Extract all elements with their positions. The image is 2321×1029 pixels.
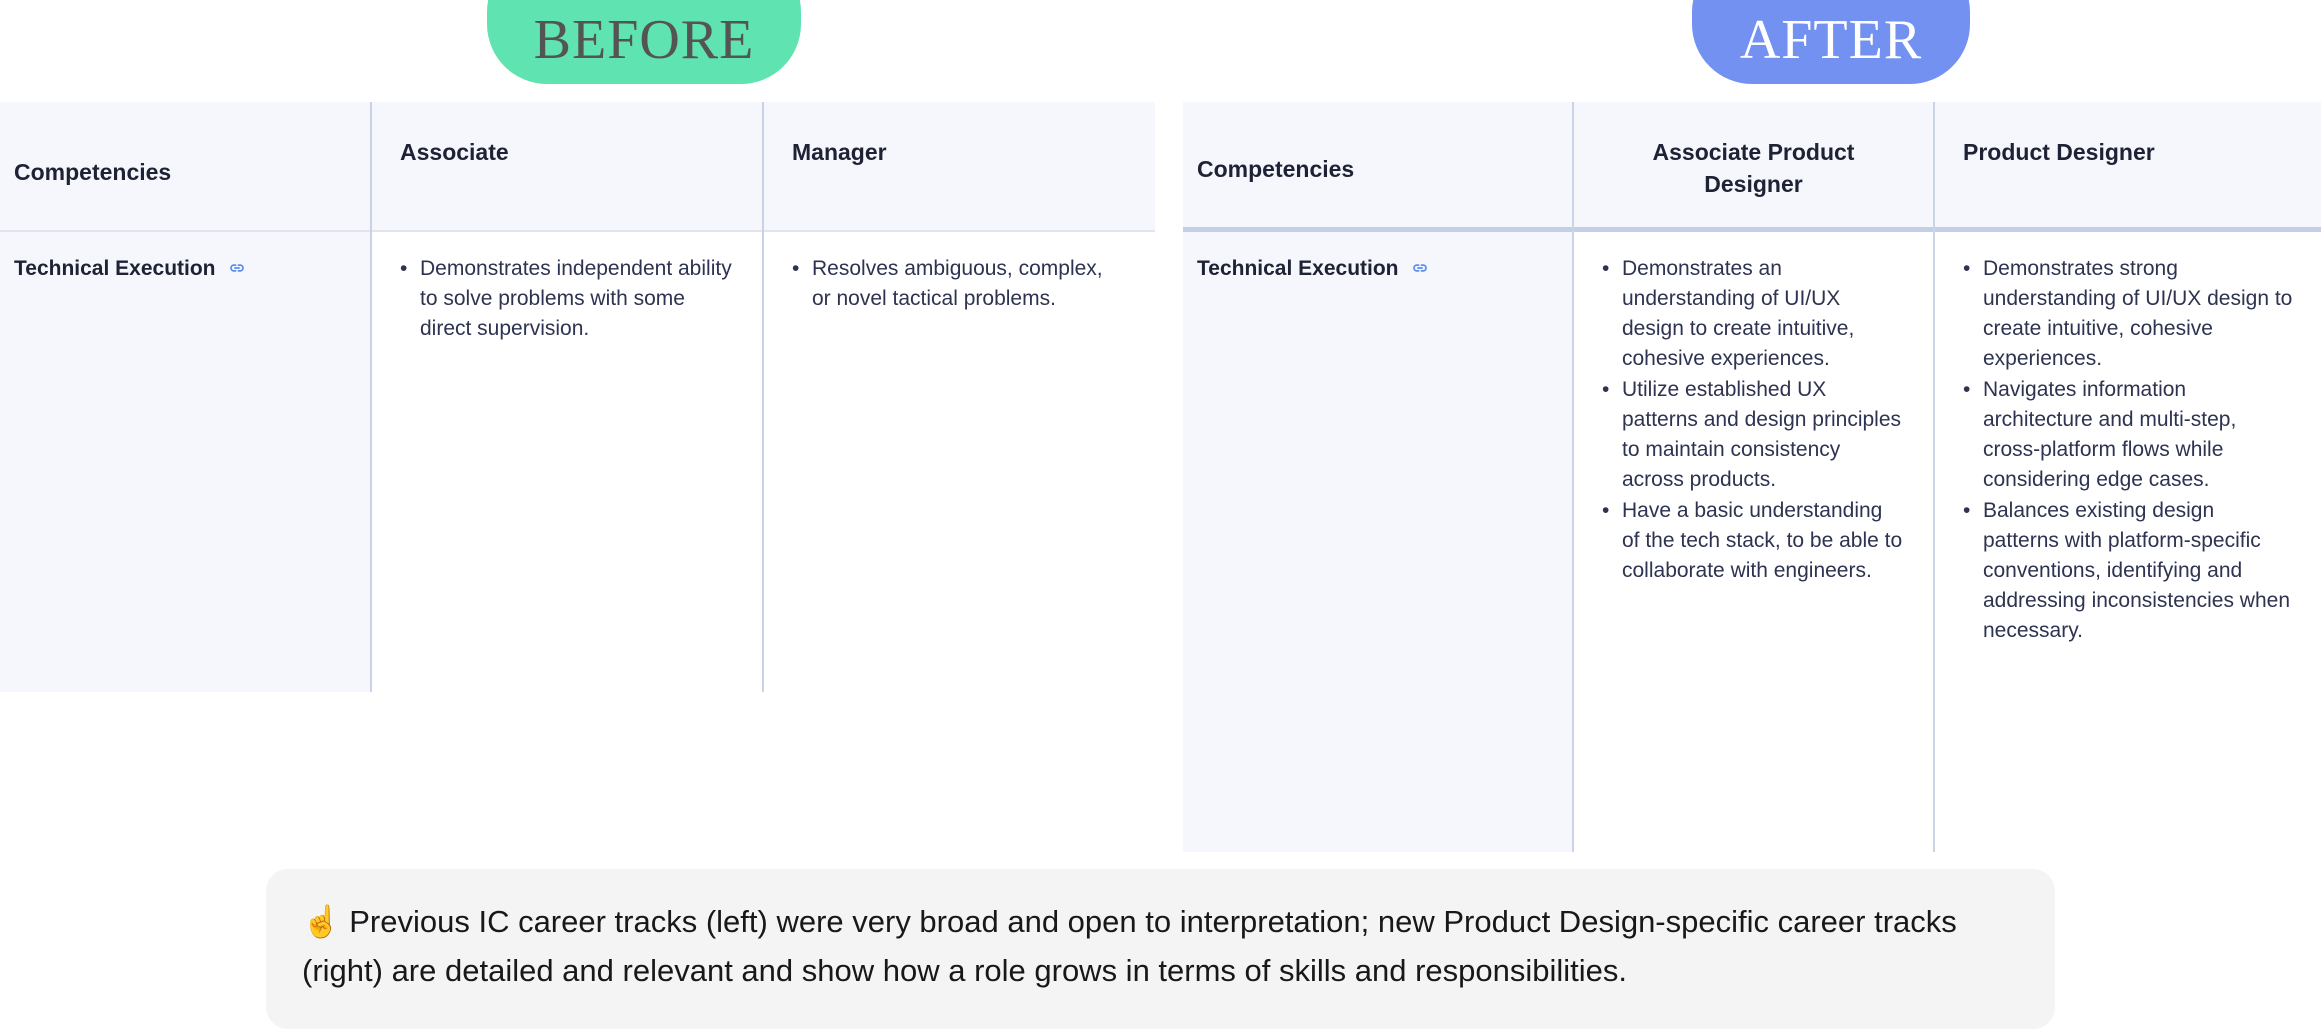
before-cell-competency: Technical Execution bbox=[0, 232, 370, 692]
after-header-associate-product-designer: Associate Product Designer bbox=[1574, 102, 1933, 227]
before-header-competencies: Competencies bbox=[0, 102, 370, 230]
caption-text: ☝️ Previous IC career tracks (left) were… bbox=[302, 897, 2019, 995]
pointing-up-icon: ☝️ bbox=[302, 904, 341, 939]
after-column-product-designer: Product Designer Demonstrates strong und… bbox=[1935, 102, 2321, 852]
badge-after-label: AFTER bbox=[1740, 8, 1922, 72]
after-header-competencies: Competencies bbox=[1183, 102, 1572, 227]
before-cell-associate: Demonstrates independent ability to solv… bbox=[372, 232, 762, 692]
link-icon[interactable] bbox=[1410, 258, 1430, 278]
list-item: Utilize established UX patterns and desi… bbox=[1620, 375, 1905, 495]
list-item: Demonstrates an understanding of UI/UX d… bbox=[1620, 254, 1905, 374]
before-column-associate: Associate Demonstrates independent abili… bbox=[372, 102, 762, 692]
link-icon[interactable] bbox=[227, 258, 247, 278]
list-item: Demonstrates independent ability to solv… bbox=[418, 254, 734, 344]
list-item: Have a basic understanding of the tech s… bbox=[1620, 496, 1905, 586]
after-competency-label: Technical Execution bbox=[1197, 254, 1399, 284]
list-item: Demonstrates strong understanding of UI/… bbox=[1981, 254, 2293, 374]
badge-after: AFTER bbox=[1692, 0, 1970, 84]
after-bullet-list-apd: Demonstrates an understanding of UI/UX d… bbox=[1596, 254, 1905, 586]
list-item: Balances existing design patterns with p… bbox=[1981, 496, 2293, 646]
before-comparison-table: Competencies Technical Execution Associa… bbox=[0, 102, 1155, 692]
after-cell-associate-product-designer: Demonstrates an understanding of UI/UX d… bbox=[1574, 232, 1933, 852]
badge-before: BEFORE bbox=[487, 0, 801, 84]
list-item: Resolves ambiguous, complex, or novel ta… bbox=[810, 254, 1127, 314]
before-competency-label: Technical Execution bbox=[14, 254, 216, 284]
before-bullet-list-associate: Demonstrates independent ability to solv… bbox=[394, 254, 734, 344]
list-item: Navigates information architecture and m… bbox=[1981, 375, 2293, 495]
before-column-manager: Manager Resolves ambiguous, complex, or … bbox=[764, 102, 1155, 692]
caption-body: Previous IC career tracks (left) were ve… bbox=[302, 904, 1957, 988]
after-column-associate-product-designer: Associate Product Designer Demonstrates … bbox=[1574, 102, 1933, 852]
after-comparison-table: Competencies Technical Execution Associa… bbox=[1183, 102, 2321, 852]
before-cell-manager: Resolves ambiguous, complex, or novel ta… bbox=[764, 232, 1155, 692]
after-bullet-list-pd: Demonstrates strong understanding of UI/… bbox=[1957, 254, 2293, 646]
badge-before-label: BEFORE bbox=[534, 8, 755, 72]
after-cell-product-designer: Demonstrates strong understanding of UI/… bbox=[1935, 232, 2321, 852]
before-header-manager: Manager bbox=[764, 102, 1155, 230]
after-column-competencies: Competencies Technical Execution bbox=[1183, 102, 1572, 852]
caption-box: ☝️ Previous IC career tracks (left) were… bbox=[266, 869, 2055, 1029]
before-header-associate: Associate bbox=[372, 102, 762, 230]
after-cell-competency: Technical Execution bbox=[1183, 232, 1572, 852]
before-bullet-list-manager: Resolves ambiguous, complex, or novel ta… bbox=[786, 254, 1127, 314]
after-header-product-designer: Product Designer bbox=[1935, 102, 2321, 227]
before-column-competencies: Competencies Technical Execution bbox=[0, 102, 370, 692]
